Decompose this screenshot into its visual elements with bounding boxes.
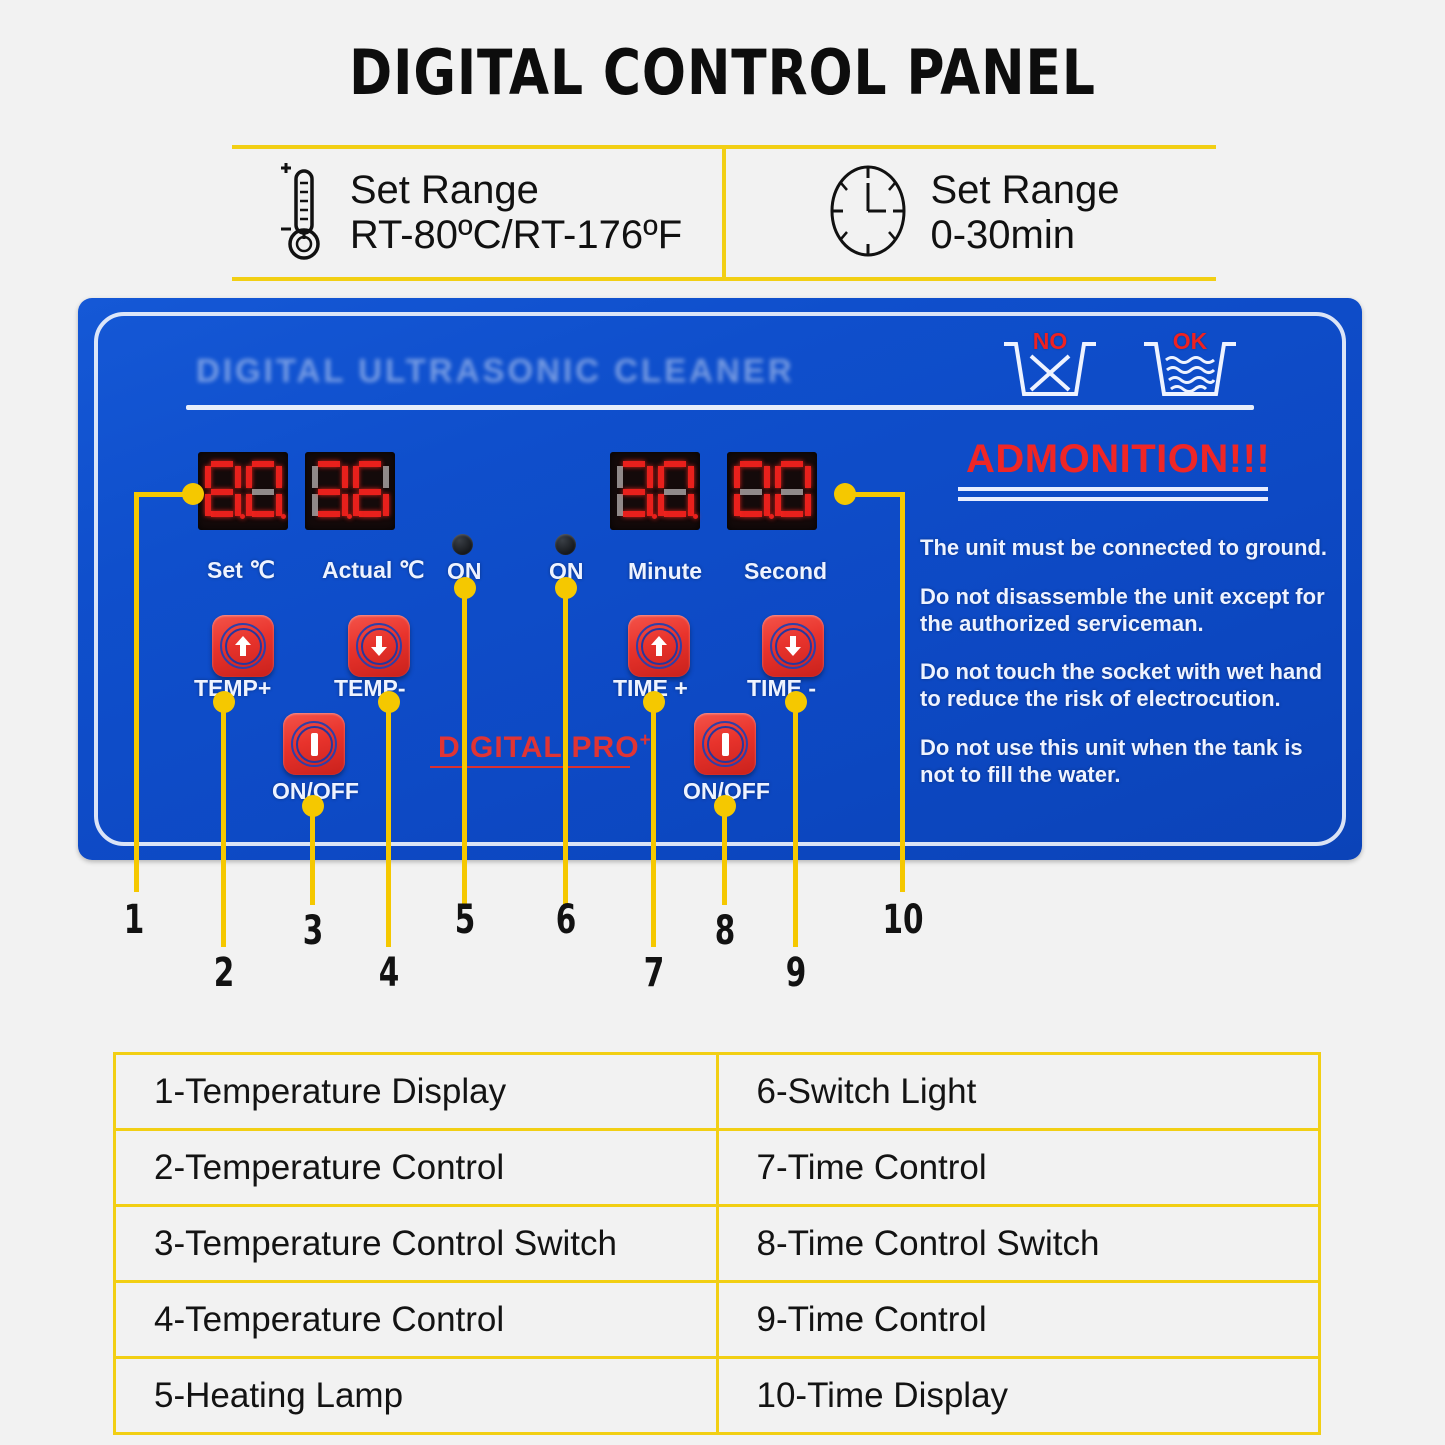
legend-cell: 7-Time Control (717, 1130, 1320, 1206)
admonition-item: Do not disassemble the unit except for t… (920, 584, 1332, 638)
set-temperature-display (198, 452, 288, 530)
page-title: DIGITAL CONTROL PANEL (51, 36, 1395, 109)
second-display (727, 452, 817, 530)
temp-onoff-button[interactable] (283, 713, 345, 775)
minute-display (610, 452, 700, 530)
spec-temperature: Set Range RT-80ºC/RT-176ºF (232, 149, 726, 277)
tank-no-label: NO (1033, 328, 1068, 355)
legend-cell: 2-Temperature Control (115, 1130, 718, 1206)
table-row: 2-Temperature Control 7-Time Control (115, 1130, 1320, 1206)
admonition-item: Do not use this unit when the tank is no… (920, 735, 1332, 789)
power-icon (311, 733, 318, 756)
time-down-button[interactable] (762, 615, 824, 677)
actual-temperature-display (305, 452, 395, 530)
callout-number-7: 7 (644, 950, 665, 996)
sub-brand-rule (430, 766, 630, 768)
seg-digit (733, 460, 771, 522)
button-ring (636, 623, 682, 669)
button-ring-inner (225, 628, 262, 665)
panel-brand-text: DIGITAL ULTRASONIC CLEANER (196, 352, 795, 390)
time-onoff-label: ON/OFF (683, 778, 770, 805)
button-ring-inner (707, 726, 744, 763)
sub-brand-sup: + (640, 730, 652, 751)
spec-timer: Set Range 0-30min (726, 149, 1216, 277)
power-icon (722, 733, 729, 756)
time-onoff-button[interactable] (694, 713, 756, 775)
seg-digit (245, 460, 283, 522)
callout-number-3: 3 (303, 908, 324, 954)
admonition-item: Do not touch the socket with wet hand to… (920, 659, 1332, 713)
callout-number-9: 9 (786, 950, 807, 996)
spec-temperature-line2: RT-80ºC/RT-176ºF (350, 213, 682, 258)
button-ring (291, 721, 337, 767)
button-ring (356, 623, 402, 669)
callout-number-2: 2 (214, 950, 235, 996)
seg-digit (774, 460, 812, 522)
heating-lamp (452, 534, 473, 555)
arrow-down-icon (371, 636, 387, 656)
legend-cell: 6-Switch Light (717, 1054, 1320, 1130)
table-row: 3-Temperature Control Switch 8-Time Cont… (115, 1206, 1320, 1282)
button-ring-inner (775, 628, 812, 665)
legend-table: 1-Temperature Display 6-Switch Light 2-T… (113, 1052, 1321, 1435)
seg-digit (311, 460, 349, 522)
legend-cell: 5-Heating Lamp (115, 1358, 718, 1434)
button-ring-inner (361, 628, 398, 665)
button-ring-inner (641, 628, 678, 665)
spec-timer-line2: 0-30min (930, 213, 1119, 258)
tank-ok-label: OK (1173, 328, 1208, 355)
tank-icons: NO OK (1000, 332, 1240, 404)
admonition-rule-bottom (958, 497, 1268, 501)
legend-cell: 9-Time Control (717, 1282, 1320, 1358)
table-row: 1-Temperature Display 6-Switch Light (115, 1054, 1320, 1130)
arrow-down-icon (785, 636, 801, 656)
admonition-heading: ADMONITION!!! (966, 437, 1270, 482)
admonition-item: The unit must be connected to ground. (920, 535, 1332, 562)
button-ring-inner (296, 726, 333, 763)
spec-temperature-text: Set Range RT-80ºC/RT-176ºF (350, 168, 682, 258)
panel-brand-rule (186, 405, 1254, 410)
time-up-label: TIME + (613, 675, 688, 702)
seg-digit (352, 460, 390, 522)
actual-temperature-label: Actual ℃ (322, 557, 425, 584)
callout-number-8: 8 (715, 908, 736, 954)
time-up-button[interactable] (628, 615, 690, 677)
thermometer-icon (272, 159, 334, 268)
legend-cell: 3-Temperature Control Switch (115, 1206, 718, 1282)
second-label: Second (744, 558, 827, 585)
legend-cell: 8-Time Control Switch (717, 1206, 1320, 1282)
spec-banner: Set Range RT-80ºC/RT-176ºF Set Range 0-3… (232, 145, 1216, 281)
admonition-rule-top (958, 487, 1268, 491)
sub-brand-text: DIGITAL PRO+ (438, 730, 652, 765)
table-row: 5-Heating Lamp 10-Time Display (115, 1358, 1320, 1434)
callout-number-1: 1 (124, 897, 145, 943)
switch-lamp-label: ON (549, 558, 584, 585)
callout-number-4: 4 (379, 950, 400, 996)
clock-icon (822, 159, 914, 268)
table-row: 4-Temperature Control 9-Time Control (115, 1282, 1320, 1358)
spec-temperature-line1: Set Range (350, 168, 539, 212)
button-ring (702, 721, 748, 767)
set-temperature-label: Set ℃ (207, 557, 275, 584)
time-down-label: TIME - (747, 675, 816, 702)
callout-number-5: 5 (455, 897, 476, 943)
heating-lamp-label: ON (447, 558, 482, 585)
tank-no-icon: NO (1000, 332, 1100, 404)
legend-cell: 1-Temperature Display (115, 1054, 718, 1130)
temp-onoff-label: ON/OFF (272, 778, 359, 805)
button-ring (770, 623, 816, 669)
spec-timer-line1: Set Range (930, 168, 1119, 212)
callout-number-6: 6 (556, 897, 577, 943)
sub-brand-label: DIGITAL PRO (438, 731, 640, 764)
spec-timer-text: Set Range 0-30min (930, 168, 1119, 258)
temp-up-label: TEMP+ (194, 675, 271, 702)
minute-label: Minute (628, 558, 702, 585)
button-ring (220, 623, 266, 669)
switch-lamp (555, 534, 576, 555)
seg-digit (616, 460, 654, 522)
tank-ok-icon: OK (1140, 332, 1240, 404)
legend-cell: 10-Time Display (717, 1358, 1320, 1434)
seg-digit (204, 460, 242, 522)
callout-number-10: 10 (882, 897, 923, 943)
admonition-list: The unit must be connected to ground. Do… (920, 535, 1332, 811)
legend-cell: 4-Temperature Control (115, 1282, 718, 1358)
seg-digit (657, 460, 695, 522)
arrow-up-icon (651, 636, 667, 656)
temp-down-label: TEMP- (334, 675, 406, 702)
temp-down-button[interactable] (348, 615, 410, 677)
temp-up-button[interactable] (212, 615, 274, 677)
arrow-up-icon (235, 636, 251, 656)
